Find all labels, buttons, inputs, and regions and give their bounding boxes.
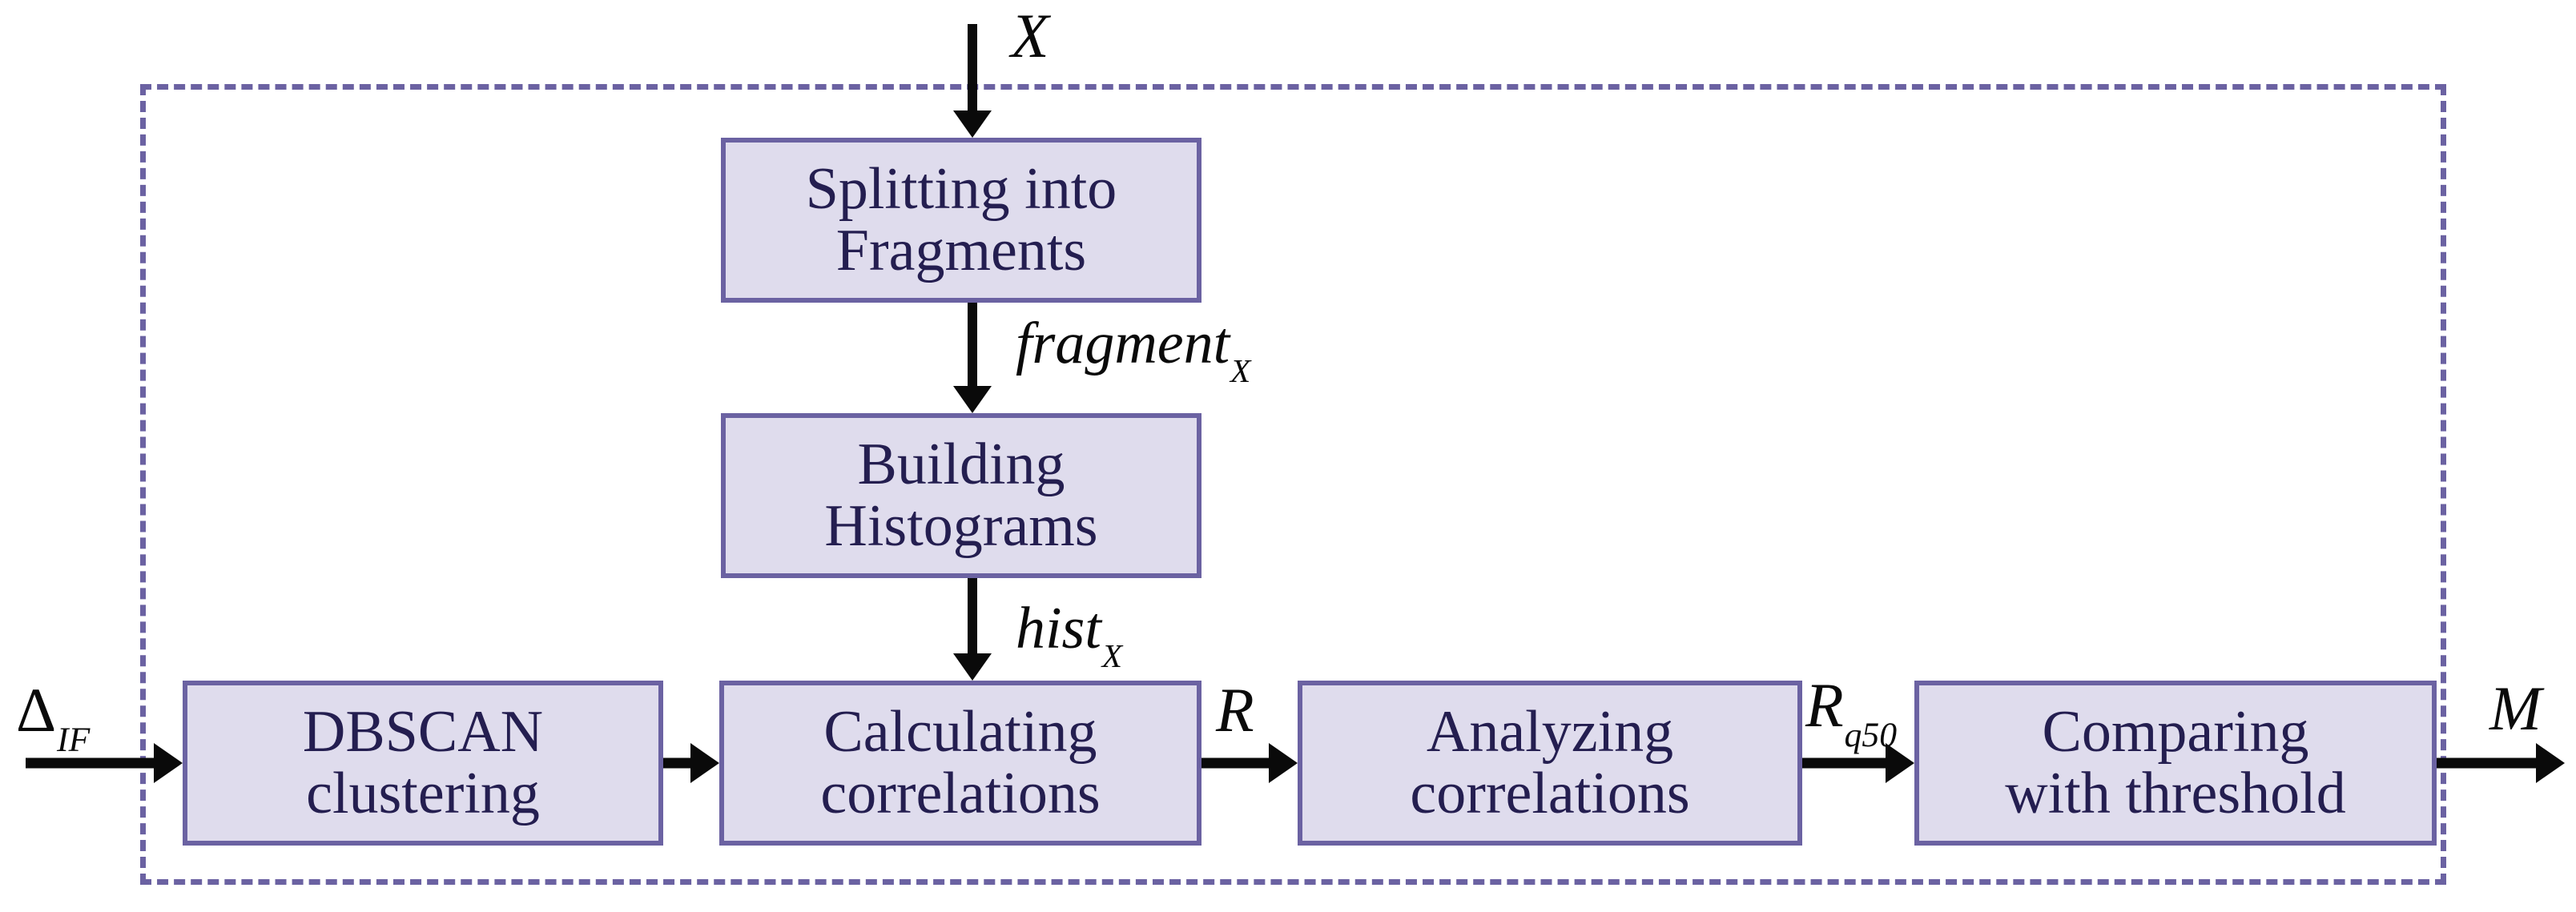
edge-label-base: R <box>1805 670 1844 740</box>
edge-label-delta-if: ΔIF <box>16 679 89 751</box>
box-label-line1: Splitting into <box>806 159 1117 220</box>
box-label-line2: Histograms <box>824 496 1097 557</box>
arrow-building-to-calculating <box>948 578 996 681</box>
edge-label-subscript: IF <box>57 721 90 759</box>
box-label-line2: clustering <box>306 763 540 825</box>
arrow-shaft <box>1201 758 1269 769</box>
edge-label-fragment-x: fragmentX <box>1016 314 1250 381</box>
box-label-line2: Fragments <box>836 220 1086 282</box>
process-box-calculating-correlations[interactable]: Calculating correlations <box>719 681 1201 846</box>
arrow-head <box>1269 743 1298 783</box>
edge-label-x: X <box>1011 5 1049 77</box>
arrow-shaft <box>2437 758 2536 769</box>
edge-label-subscript: X <box>1230 352 1250 389</box>
edge-label-subscript: q50 <box>1845 716 1898 754</box>
arrow-shaft <box>968 578 977 653</box>
edge-label-base: X <box>1011 1 1049 70</box>
box-label-line2: with threshold <box>2005 763 2345 825</box>
edge-label-base: fragment <box>1016 311 1230 376</box>
arrow-shaft <box>1802 758 1886 769</box>
arrow-input-x <box>948 24 996 138</box>
edge-label-r: R <box>1216 679 1254 751</box>
box-label-line1: DBSCAN <box>303 701 543 763</box>
edge-label-m: M <box>2489 677 2542 749</box>
arrow-head <box>154 743 183 783</box>
arrow-head <box>690 743 719 783</box>
process-box-building-histograms[interactable]: Building Histograms <box>721 413 1201 578</box>
arrow-shaft <box>663 758 690 769</box>
arrow-shaft <box>968 24 977 110</box>
box-label-line2: correlations <box>820 763 1100 825</box>
diagram-canvas: Splitting into Fragments Building Histog… <box>0 0 2576 912</box>
arrow-shaft <box>968 303 977 386</box>
arrow-head <box>953 110 992 138</box>
edge-label-base: R <box>1216 675 1254 745</box>
edge-label-base: Δ <box>16 675 56 745</box>
edge-label-base: M <box>2489 673 2542 743</box>
arrow-head <box>953 386 992 413</box>
arrow-splitting-to-building <box>948 303 996 413</box>
arrow-head <box>953 653 992 681</box>
edge-label-base: hist <box>1016 596 1101 661</box>
box-label-line1: Calculating <box>823 701 1097 763</box>
arrow-shaft <box>26 758 154 769</box>
edge-label-subscript: X <box>1102 637 1122 674</box>
process-box-comparing-with-threshold[interactable]: Comparing with threshold <box>1914 681 2437 846</box>
box-label-line1: Analyzing <box>1427 701 1673 763</box>
process-box-splitting-into-fragments[interactable]: Splitting into Fragments <box>721 138 1201 303</box>
process-box-analyzing-correlations[interactable]: Analyzing correlations <box>1298 681 1802 846</box>
arrow-dbscan-to-calculating <box>663 743 719 783</box>
box-label-line2: correlations <box>1410 763 1689 825</box>
process-box-dbscan-clustering[interactable]: DBSCAN clustering <box>183 681 663 846</box>
box-label-line1: Comparing <box>2043 701 2309 763</box>
edge-label-hist-x: histX <box>1016 599 1121 666</box>
edge-label-r-q50: Rq50 <box>1805 674 1896 746</box>
box-label-line1: Building <box>857 434 1065 496</box>
